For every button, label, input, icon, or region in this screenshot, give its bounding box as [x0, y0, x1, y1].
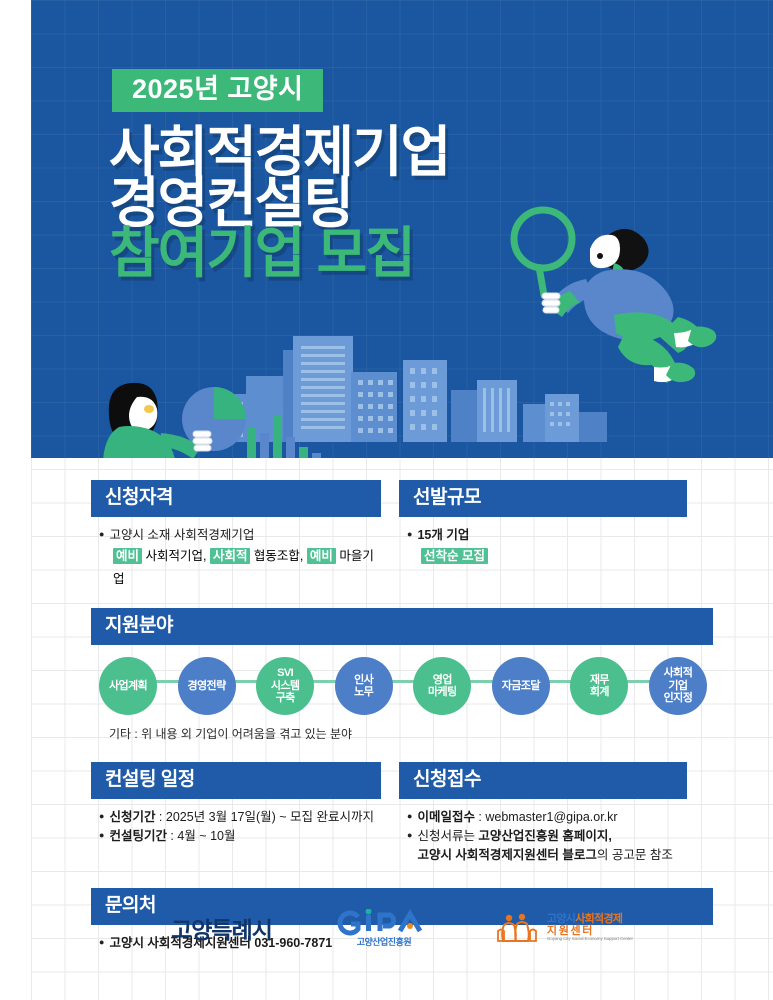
poster-root: 2025년 고양시 사회적경제기업 경영컨설팅 참여기업 모집 [0, 0, 773, 1000]
field-circle-label: 인사노무 [354, 674, 373, 699]
eligibility-plain-text: 사회적기업, [142, 549, 210, 563]
field-circle: 인사노무 [335, 657, 393, 715]
field-circle: 자금조달 [492, 657, 550, 715]
gipa-wordmark-icon [336, 909, 432, 937]
eligibility-subtext: 예비 사회적기업, 사회적 협동조합, 예비 마을기업 [99, 545, 381, 590]
section-fields: 지원분야 사업계획경영전략SVI시스템구축인사노무영업마케팅자금조달재무회계사회… [31, 590, 773, 742]
field-circle-label: 영업마케팅 [428, 674, 457, 699]
schedule-item-text: 컨설팅기간 : 4월 ~ 10월 [109, 827, 235, 846]
schedule-content: ●신청기간 : 2025년 3월 17일(월) ~ 모집 완료시까지●컨설팅기간… [91, 799, 381, 847]
people-figures-icon [496, 913, 542, 943]
schedule-item-label: 컨설팅기간 [109, 829, 167, 843]
poster-body: 신청자격 ● 고양시 소재 사회적경제기업 예비 사회적기업, 사회적 협동조합… [31, 458, 773, 953]
row-schedule-apply: 컨설팅 일정 ●신청기간 : 2025년 3월 17일(월) ~ 모집 완료시까… [31, 742, 773, 866]
apply-docs-bold-1: 고양산업진흥원 홈페이지, [478, 829, 611, 843]
field-circle: 사회적기업인지정 [649, 657, 707, 715]
apply-docs-prefix: 신청서류는 [417, 829, 478, 843]
apply-email-value: : webmaster1@gipa.or.kr [475, 810, 618, 824]
title-line-2: 경영컨설팅 [109, 178, 449, 229]
fields-heading: 지원분야 [91, 608, 713, 645]
section-schedule: 컨설팅 일정 ●신청기간 : 2025년 3월 17일(월) ~ 모집 완료시까… [91, 762, 381, 866]
schedule-heading: 컨설팅 일정 [91, 762, 381, 799]
footer-logos: 고양특례시 고양산업진흥원 고양시사회적경제 [31, 898, 773, 958]
gipa-subtitle: 고양산업진흥원 [357, 935, 411, 948]
field-circle-label: 자금조달 [502, 680, 540, 692]
apply-email-row: ● 이메일접수 : webmaster1@gipa.or.kr [407, 808, 687, 827]
eligibility-tag: 예비 [307, 548, 336, 564]
eligibility-bullet-text: 고양시 소재 사회적경제기업 [109, 526, 254, 545]
section-eligibility: 신청자격 ● 고양시 소재 사회적경제기업 예비 사회적기업, 사회적 협동조합… [91, 480, 381, 590]
apply-email-label: 이메일접수 [417, 810, 475, 824]
eligibility-heading: 신청자격 [91, 480, 381, 517]
field-circle-label: 사업계획 [109, 680, 147, 692]
apply-email-text: 이메일접수 : webmaster1@gipa.or.kr [417, 808, 617, 827]
magnifier-glass-icon [514, 210, 572, 268]
page-title: 사회적경제기업 경영컨설팅 참여기업 모집 [109, 127, 449, 279]
bullet-dot-icon: ● [407, 526, 412, 543]
field-circle: 사업계획 [99, 657, 157, 715]
schedule-item-value: : 2025년 3월 17일(월) ~ 모집 완료시까지 [155, 810, 374, 824]
apply-docs-row: ● 신청서류는 고양산업진흥원 홈페이지,고양시 사회적경제지원센터 블로그의 … [407, 827, 687, 866]
center-logo-text: 고양시사회적경제 지 원 센 터 Goyang City Social Econ… [547, 914, 633, 942]
field-circle-label: 경영전략 [188, 680, 226, 692]
scale-tag: 선착순 모집 [421, 548, 488, 564]
center-logo-name: 사회적경제 [575, 913, 622, 925]
schedule-item-label: 신청기간 [109, 810, 155, 824]
schedule-item-value: : 4월 ~ 10월 [167, 829, 236, 843]
eligibility-content: ● 고양시 소재 사회적경제기업 예비 사회적기업, 사회적 협동조합, 예비 … [91, 517, 381, 590]
section-apply: 신청접수 ● 이메일접수 : webmaster1@gipa.or.kr ● 신… [399, 762, 687, 866]
scale-content: ● 15개 기업 선착순 모집 [399, 517, 687, 568]
apply-heading: 신청접수 [399, 762, 687, 799]
scale-bullet-text: 15개 기업 [417, 526, 469, 545]
social-economy-center-logo: 고양시사회적경제 지 원 센 터 Goyang City Social Econ… [496, 913, 633, 943]
field-circle: 재무회계 [570, 657, 628, 715]
field-circle-label: 재무회계 [590, 674, 609, 699]
apply-docs-bold-2: 고양시 사회적경제지원센터 블로그 [417, 848, 596, 862]
schedule-item-text: 신청기간 : 2025년 3월 17일(월) ~ 모집 완료시까지 [109, 808, 374, 827]
scale-bullet: ● 15개 기업 [407, 526, 687, 545]
year-city-badge: 2025년 고양시 [112, 69, 323, 112]
fields-circle-row: 사업계획경영전략SVI시스템구축인사노무영업마케팅자금조달재무회계사회적기업인지… [91, 645, 713, 715]
scale-heading: 선발규모 [399, 480, 687, 517]
eligibility-tag: 사회적 [210, 548, 251, 564]
bar-chart-shape [247, 415, 321, 458]
eligibility-tag: 예비 [113, 548, 142, 564]
gipa-logo: 고양산업진흥원 [336, 909, 432, 948]
apply-content: ● 이메일접수 : webmaster1@gipa.or.kr ● 신청서류는 … [399, 799, 687, 866]
field-circle: SVI시스템구축 [256, 657, 314, 715]
center-logo-city: 고양시 [547, 913, 575, 925]
bullet-dot-icon: ● [99, 827, 104, 844]
center-logo-english: Goyang City Social Economy Support Cente… [547, 937, 633, 942]
person-with-magnifier-illustration [486, 205, 726, 405]
apply-docs-suffix: 의 공고문 참조 [597, 848, 673, 862]
row-eligibility-scale: 신청자격 ● 고양시 소재 사회적경제기업 예비 사회적기업, 사회적 협동조합… [31, 458, 773, 590]
bullet-dot-icon: ● [407, 808, 412, 825]
woman-with-charts-illustration [101, 375, 351, 458]
field-circle-label: 사회적기업인지정 [664, 667, 693, 704]
eligibility-bullet: ● 고양시 소재 사회적경제기업 [99, 526, 381, 545]
title-line-3: 참여기업 모집 [109, 228, 449, 279]
bullet-dot-icon: ● [407, 827, 412, 844]
hero-banner: 2025년 고양시 사회적경제기업 경영컨설팅 참여기업 모집 [31, 0, 773, 458]
schedule-item: ●컨설팅기간 : 4월 ~ 10월 [99, 827, 381, 846]
fields-note: 기타 : 위 내용 외 기업이 어려움을 겪고 있는 분야 [91, 715, 713, 742]
title-line-1: 사회적경제기업 [109, 127, 449, 178]
goyang-city-logo: 고양특례시 [171, 911, 272, 945]
eligibility-plain-text: 협동조합, [250, 549, 306, 563]
bullet-dot-icon: ● [99, 526, 104, 543]
field-circle: 경영전략 [178, 657, 236, 715]
schedule-item: ●신청기간 : 2025년 3월 17일(월) ~ 모집 완료시까지 [99, 808, 381, 827]
section-scale: 선발규모 ● 15개 기업 선착순 모집 [399, 480, 687, 590]
apply-docs-text: 신청서류는 고양산업진흥원 홈페이지,고양시 사회적경제지원센터 블로그의 공고… [417, 827, 672, 866]
center-logo-line: 고양시사회적경제 [547, 914, 633, 926]
field-circle: 영업마케팅 [413, 657, 471, 715]
field-circle-label: SVI시스템구축 [271, 667, 300, 704]
bullet-dot-icon: ● [99, 808, 104, 825]
scale-tag-wrap: 선착순 모집 [407, 545, 687, 568]
